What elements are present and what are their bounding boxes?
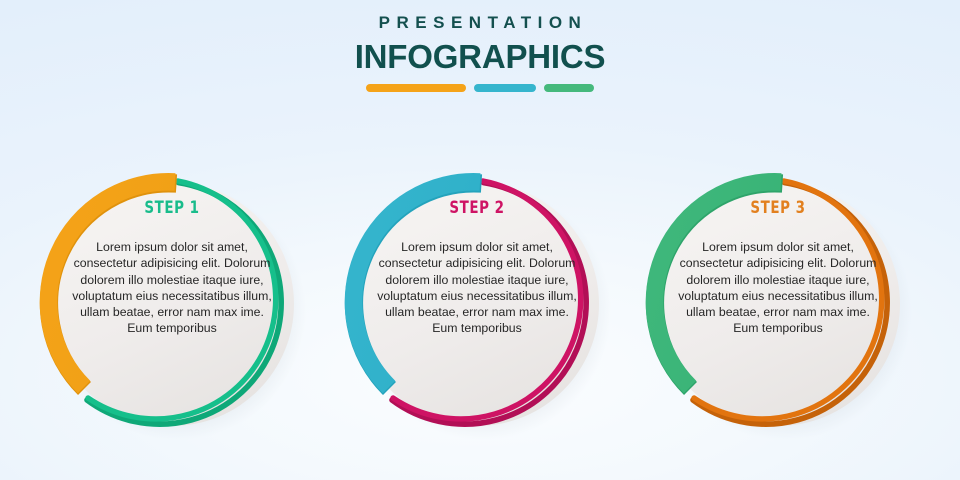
step-body-2: Lorem ipsum dolor sit amet, consectetur …	[370, 239, 584, 337]
steps-row: STEP 1 Lorem ipsum dolor sit amet, conse…	[0, 166, 960, 456]
rule-row	[0, 84, 960, 92]
rule-green	[544, 84, 594, 92]
step-content-2: STEP 2 Lorem ipsum dolor sit amet, conse…	[370, 200, 584, 337]
step-card-2[interactable]: STEP 2 Lorem ipsum dolor sit amet, conse…	[342, 166, 612, 442]
rule-cyan	[474, 84, 536, 92]
header: PRESENTATION INFOGRAPHICS	[0, 14, 960, 92]
step-card-1[interactable]: STEP 1 Lorem ipsum dolor sit amet, conse…	[37, 166, 307, 442]
step-card-3[interactable]: STEP 3 Lorem ipsum dolor sit amet, conse…	[643, 166, 913, 442]
infographic-canvas: PRESENTATION INFOGRAPHICS	[0, 0, 960, 480]
step-content-1: STEP 1 Lorem ipsum dolor sit amet, conse…	[65, 200, 279, 337]
kicker-text: PRESENTATION	[0, 14, 960, 31]
step-title-1: STEP 1	[78, 200, 266, 217]
step-body-1: Lorem ipsum dolor sit amet, consectetur …	[65, 239, 279, 337]
step-content-3: STEP 3 Lorem ipsum dolor sit amet, conse…	[671, 200, 885, 337]
step-title-2: STEP 2	[383, 200, 571, 217]
step-title-3: STEP 3	[684, 200, 872, 217]
page-title: INFOGRAPHICS	[0, 40, 960, 73]
rule-orange	[366, 84, 466, 92]
step-body-3: Lorem ipsum dolor sit amet, consectetur …	[671, 239, 885, 337]
